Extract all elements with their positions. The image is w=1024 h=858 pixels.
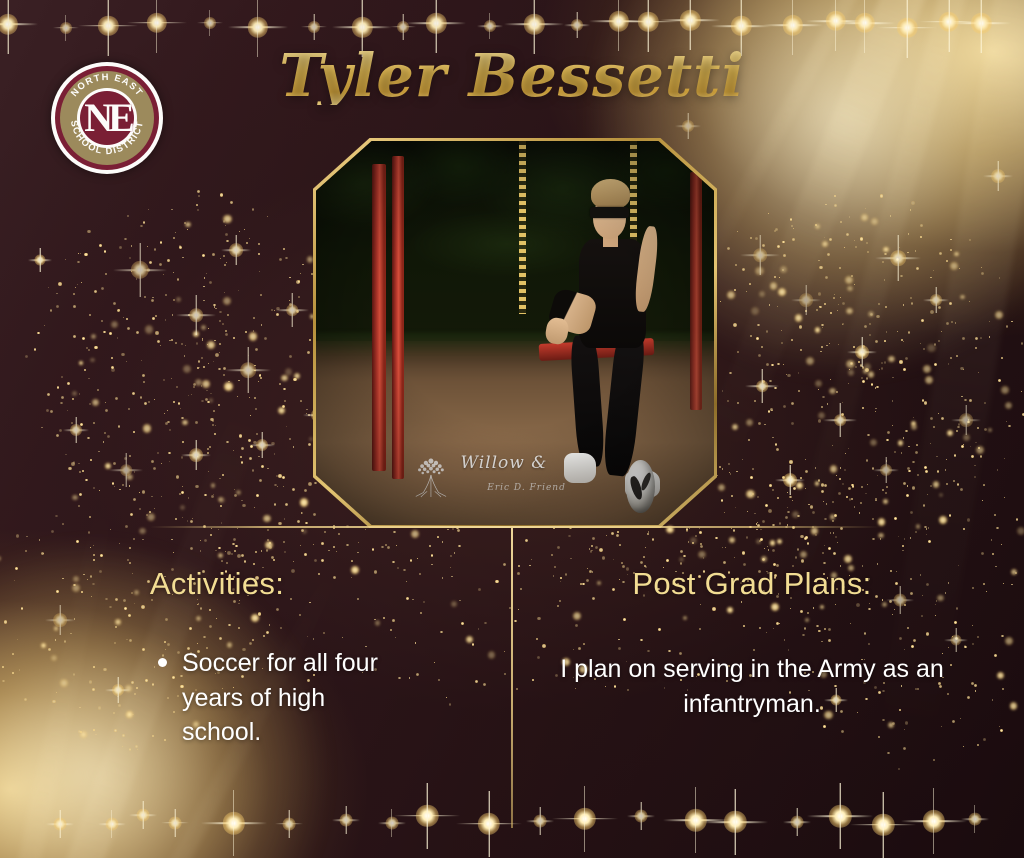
sparkle-dot: [960, 295, 965, 300]
sparkle-dot: [197, 190, 200, 193]
sparkle-dot: [720, 301, 722, 303]
sparkle-dot: [851, 275, 854, 278]
sparkle-dot: [188, 395, 189, 396]
sparkle-dot: [930, 443, 931, 444]
sparkle-dot: [866, 242, 868, 244]
sparkle-dot: [201, 357, 203, 359]
sparkle-dot: [429, 545, 431, 547]
sparkle-dot: [215, 308, 216, 309]
sparkle-dot: [878, 533, 883, 538]
sparkle-dot: [227, 314, 229, 316]
sparkle-dot: [37, 332, 39, 334]
sparkle-dot: [872, 467, 875, 470]
sparkle-dot: [129, 455, 131, 457]
sparkle-dot: [254, 370, 256, 372]
sparkle-dot: [144, 402, 147, 405]
sparkle-dot: [263, 515, 270, 522]
sparkle-dot: [800, 349, 802, 351]
sparkle-dot: [155, 331, 158, 334]
sparkle-dot: [589, 548, 591, 550]
sparkle-dot: [863, 368, 869, 374]
sparkle-dot: [793, 487, 796, 490]
sparkle-dot: [840, 221, 842, 223]
sparkle-dot: [223, 297, 231, 305]
sparkle-dot: [79, 493, 82, 496]
sparkle-dot: [822, 241, 829, 248]
sparkle-dot: [939, 252, 942, 255]
sparkle-dot: [177, 278, 180, 281]
sparkle-dot: [351, 560, 353, 562]
sparkle-dot: [293, 446, 294, 447]
sparkle-dot: [222, 323, 224, 325]
sparkle-dot: [911, 424, 917, 430]
sparkle-dot: [210, 418, 213, 421]
sparkle-dot: [250, 415, 251, 416]
sparkle-dot: [774, 230, 776, 232]
sparkle-dot: [795, 556, 798, 559]
starburst-icon: [847, 337, 877, 367]
sparkle-dot: [905, 430, 907, 432]
sparkle-dot: [934, 343, 937, 346]
sparkle-dot: [1004, 497, 1005, 498]
sparkle-dot: [956, 430, 958, 432]
sparkle-dot: [278, 522, 281, 525]
sparkle-dot: [72, 391, 77, 396]
sparkle-dot: [818, 412, 825, 419]
sparkle-dot: [279, 258, 282, 261]
sparkle-dot: [294, 373, 300, 379]
sparkle-dot: [892, 400, 893, 401]
sparkle-dot: [454, 552, 455, 553]
sparkle-dot: [176, 386, 178, 388]
sparkle-dot: [880, 538, 881, 539]
sparkle-dot: [754, 400, 756, 402]
sparkle-dot: [865, 208, 866, 209]
sparkle-dot: [203, 286, 205, 288]
sparkle-dot: [818, 419, 821, 422]
sparkle-dot: [82, 470, 84, 472]
sparkle-dot: [179, 493, 181, 495]
sparkle-dot: [284, 518, 285, 519]
sparkle-dot: [205, 398, 208, 401]
sparkle-dot: [208, 328, 209, 329]
sparkle-dot: [768, 509, 772, 513]
sparkle-dot: [1017, 527, 1024, 535]
sparkle-dot: [357, 552, 359, 554]
sparkle-dot: [129, 485, 131, 487]
starburst-icon: [675, 113, 701, 139]
sparkle-dot: [860, 237, 863, 240]
sparkle-dot: [728, 463, 730, 465]
sparkle-dot: [238, 290, 239, 291]
sparkle-dot: [887, 752, 889, 754]
sparkle-dot: [829, 343, 830, 344]
sparkle-dot: [171, 339, 173, 341]
sparkle-dot: [264, 337, 267, 340]
sparkle-dot: [118, 425, 120, 427]
sparkle-dot: [15, 567, 18, 570]
sparkle-dot: [1005, 402, 1012, 409]
sparkle-dot: [881, 367, 884, 370]
sparkle-dot: [516, 688, 518, 690]
sparkle-dot: [90, 358, 95, 363]
sparkle-dot: [447, 529, 449, 531]
sparkle-dot: [136, 278, 137, 279]
sparkle-dot: [101, 287, 104, 290]
sparkle-dot: [846, 233, 849, 236]
sparkle-dot: [818, 389, 819, 390]
sparkle-dot: [250, 445, 253, 448]
sparkle-dot: [219, 497, 225, 503]
sparkle-dot: [78, 505, 80, 507]
sparkle-dot: [758, 422, 761, 425]
sparkle-dot: [777, 497, 779, 499]
sparkle-dot: [735, 264, 737, 266]
sparkle-dot: [133, 498, 136, 501]
sparkle-dot: [769, 484, 772, 487]
sparkle-dot: [894, 451, 896, 453]
sparkle-dot: [805, 459, 806, 460]
sparkle-dot: [761, 556, 768, 563]
sparkle-dot: [278, 407, 285, 414]
sparkle-dot: [249, 238, 250, 239]
sparkle-dot: [196, 204, 198, 206]
sparkle-dot: [991, 539, 992, 540]
sparkle-dot: [886, 439, 889, 442]
sparkle-dot: [826, 345, 828, 347]
sparkle-dot: [114, 486, 115, 487]
sparkle-dot: [163, 274, 164, 275]
sparkle-dot: [80, 253, 81, 254]
sparkle-dot: [772, 437, 773, 438]
sparkle-dot: [336, 551, 337, 552]
sparkle-dot: [789, 460, 792, 463]
sparkle-dot: [259, 374, 262, 377]
sparkle-dot: [219, 311, 222, 314]
sparkle-dot: [799, 325, 802, 328]
sparkle-dot: [21, 607, 24, 610]
sparkle-dot: [833, 532, 835, 534]
sparkle-dot: [834, 294, 836, 296]
sparkle-dot: [253, 563, 254, 564]
sparkle-dot: [910, 297, 912, 299]
sparkle-dot: [768, 410, 770, 412]
sparkle-dot: [12, 653, 14, 655]
sparkle-dot: [903, 437, 905, 439]
starburst-icon: [961, 805, 989, 833]
sparkle-dot: [872, 518, 874, 520]
sparkle-dot: [227, 551, 230, 554]
sparkle-dot: [751, 307, 759, 315]
sparkle-dot: [845, 453, 846, 454]
sparkle-dot: [729, 472, 730, 473]
sparkle-dot: [266, 549, 268, 551]
sparkle-dot: [700, 543, 703, 546]
sparkle-dot: [141, 360, 142, 361]
sparkle-dot: [258, 243, 259, 244]
sparkle-dot: [862, 380, 865, 383]
sparkle-dot: [751, 495, 752, 496]
sparkle-dot: [1021, 391, 1022, 392]
sparkle-dot: [207, 401, 210, 404]
sparkle-dot: [805, 488, 806, 489]
sparkle-dot: [248, 439, 250, 441]
sparkle-dot: [643, 556, 645, 558]
sparkle-dot: [306, 413, 307, 414]
sparkle-dot: [957, 426, 959, 428]
starburst-icon: [850, 792, 916, 858]
sparkle-dot: [62, 523, 64, 525]
sparkle-dot: [866, 377, 869, 380]
sparkle-dot: [284, 400, 285, 401]
sparkle-dot: [885, 306, 886, 307]
sparkle-dot: [924, 401, 927, 404]
sparkle-dot: [762, 558, 765, 561]
sparkle-dot: [722, 390, 724, 392]
sparkle-dot: [184, 222, 186, 224]
sparkle-dot: [775, 228, 778, 231]
sparkle-dot: [237, 396, 238, 397]
sparkle-dot: [289, 438, 291, 440]
sparkle-dot: [791, 339, 793, 341]
sparkle-dot: [48, 287, 49, 288]
sparkle-dot: [1005, 637, 1013, 645]
sparkle-dot: [160, 345, 161, 346]
sparkle-dot: [735, 551, 736, 552]
sparkle-dot: [169, 461, 170, 462]
sparkle-dot: [851, 484, 853, 486]
sparkle-dot: [908, 446, 909, 447]
sparkle-dot: [103, 441, 104, 442]
sparkle-dot: [749, 283, 751, 285]
sparkle-dot: [25, 550, 27, 552]
sparkle-dot: [830, 532, 832, 534]
sparkle-dot: [810, 505, 813, 508]
sparkle-dot: [112, 482, 115, 485]
sparkle-dot: [898, 440, 903, 445]
sparkle-dot: [910, 537, 912, 539]
sparkle-dot: [855, 246, 857, 248]
sparkle-dot: [241, 461, 243, 463]
photo-octagon-inner: Willow & Eric D. Friend: [316, 141, 714, 525]
sparkle-dot: [282, 405, 285, 408]
sparkle-dot: [308, 482, 312, 486]
sparkle-dot: [300, 545, 301, 546]
sparkle-dot: [234, 489, 235, 490]
sparkle-dot: [293, 561, 294, 562]
sparkle-dot: [279, 383, 281, 385]
sparkle-dot: [233, 450, 234, 451]
sparkle-dot: [94, 290, 97, 293]
sparkle-dot: [825, 204, 827, 206]
sparkle-dot: [73, 305, 76, 308]
sparkle-dot: [692, 542, 694, 544]
sparkle-dot: [787, 374, 790, 377]
sparkle-dot: [202, 254, 205, 257]
sparkle-dot: [871, 218, 878, 225]
sparkle-dot: [51, 530, 54, 533]
sparkle-dot: [269, 542, 271, 544]
sparkle-dot: [385, 544, 387, 546]
sparkle-dot: [219, 343, 221, 345]
sparkle-dot: [200, 540, 201, 541]
post-grad-plans-column: Post Grad Plans: I plan on serving in th…: [522, 566, 982, 722]
sparkle-dot: [93, 545, 94, 546]
sparkle-dot: [261, 465, 264, 468]
sparkle-dot: [763, 389, 764, 390]
sparkle-dot: [766, 363, 769, 366]
sparkle-dot: [902, 550, 903, 551]
sparkle-dot: [903, 341, 904, 342]
sparkle-dot: [89, 403, 91, 405]
sparkle-dot: [212, 253, 215, 256]
sparkle-dot: [175, 232, 176, 233]
sparkle-dot: [239, 231, 240, 232]
sparkle-dot: [862, 353, 863, 354]
sparkle-dot: [645, 547, 646, 548]
sparkle-dot: [977, 744, 979, 746]
sparkle-dot: [783, 405, 786, 408]
sparkle-dot: [202, 380, 210, 388]
sparkle-dot: [206, 273, 207, 274]
sparkle-dot: [619, 544, 621, 546]
sparkle-dot: [879, 369, 880, 370]
sparkle-dot: [206, 390, 208, 392]
sparkle-dot: [729, 372, 732, 375]
starburst-icon: [176, 295, 216, 335]
sparkle-dot: [949, 514, 952, 517]
starburst-icon: [28, 248, 52, 272]
sparkle-dot: [777, 363, 779, 365]
sparkle-dot: [143, 424, 151, 432]
sparkle-dot: [171, 378, 172, 379]
sparkle-dot: [104, 432, 106, 434]
sparkle-dot: [818, 292, 822, 296]
sparkle-dot: [134, 471, 135, 472]
starburst-icon: [745, 369, 779, 403]
sparkle-dot: [54, 626, 59, 631]
post-grad-plans-body: I plan on serving in the Army as an infa…: [522, 652, 982, 722]
sparkle-dot: [252, 469, 254, 471]
sparkle-dot: [798, 390, 800, 392]
sparkle-dot: [777, 539, 782, 544]
sparkle-dot: [167, 410, 168, 411]
sparkle-dot: [757, 496, 760, 499]
sparkle-dot: [903, 482, 906, 485]
sparkle-dot: [121, 353, 125, 357]
sparkle-dot: [458, 545, 460, 547]
sparkle-dot: [842, 483, 844, 485]
sparkle-dot: [167, 259, 170, 262]
sparkle-dot: [805, 310, 807, 312]
sparkle-dot: [858, 361, 860, 363]
sparkle-dot: [50, 309, 52, 311]
starburst-icon: [564, 12, 590, 38]
sparkle-dot: [267, 529, 269, 531]
sparkle-dot: [862, 345, 865, 348]
sparkle-dot: [933, 426, 935, 428]
sparkle-dot: [905, 357, 908, 360]
sparkle-dot: [195, 485, 198, 488]
sparkle-dot: [17, 639, 18, 640]
sparkle-dot: [903, 747, 906, 750]
sparkle-dot: [249, 332, 257, 340]
sparkle-dot: [19, 669, 21, 671]
sparkle-dot: [698, 551, 705, 558]
sparkle-dot: [746, 419, 753, 426]
sparkle-dot: [834, 204, 837, 207]
sparkle-dot: [804, 537, 807, 540]
sparkle-dot: [821, 324, 824, 327]
sparkle-dot: [851, 498, 853, 500]
sparkle-dot: [884, 279, 886, 281]
sparkle-dot: [146, 514, 148, 516]
sparkle-dot: [525, 539, 528, 542]
sparkle-dot: [842, 323, 844, 325]
sparkle-dot: [176, 475, 179, 478]
sparkle-dot: [281, 375, 288, 382]
sparkle-dot: [148, 209, 149, 210]
sparkle-dot: [959, 268, 960, 269]
starburst-icon: [275, 293, 309, 327]
sparkle-dot: [182, 420, 188, 426]
sparkle-dot: [926, 528, 928, 530]
sparkle-dot: [34, 348, 37, 351]
sparkle-dot: [882, 261, 884, 263]
sparkle-dot: [182, 257, 184, 259]
sparkle-dot: [781, 330, 782, 331]
sparkle-dot: [846, 496, 848, 498]
sparkle-dot: [55, 515, 57, 517]
sparkle-dot: [195, 379, 202, 386]
sparkle-dot: [770, 540, 776, 546]
sparkle-dot: [892, 377, 894, 379]
sparkle-dot: [742, 459, 744, 461]
sparkle-dot: [220, 258, 221, 259]
sparkle-dot: [871, 383, 874, 386]
sparkle-dot: [147, 513, 155, 521]
sparkle-dot: [79, 471, 81, 473]
sparkle-dot: [570, 558, 572, 560]
sparkle-dot: [204, 539, 207, 542]
sparkle-dot: [56, 590, 59, 593]
sparkle-dot: [231, 553, 233, 555]
sparkle-dot: [75, 287, 76, 288]
sparkle-dot: [233, 538, 236, 541]
sparkle-dot: [869, 334, 871, 336]
sparkle-dot: [782, 476, 785, 479]
sparkle-dot: [313, 544, 314, 545]
sparkle-dot: [983, 738, 986, 741]
sparkle-dot: [105, 273, 107, 275]
sparkle-dot: [324, 531, 326, 533]
sparkle-dot: [997, 469, 999, 471]
sparkle-dot: [1001, 357, 1002, 358]
sparkle-dot: [833, 297, 835, 299]
sparkle-dot: [1002, 688, 1004, 690]
sparkle-dot: [283, 388, 286, 391]
starburst-icon: [249, 432, 275, 458]
sparkle-dot: [256, 433, 258, 435]
sparkle-dot: [800, 535, 803, 538]
sparkle-dot: [611, 532, 614, 535]
sparkle-dot: [283, 541, 285, 543]
sparkle-dot: [958, 423, 960, 425]
sparkle-dot: [946, 459, 947, 460]
sparkle-dot: [877, 563, 878, 564]
sparkle-dot: [276, 313, 279, 316]
sparkle-dot: [755, 267, 763, 275]
